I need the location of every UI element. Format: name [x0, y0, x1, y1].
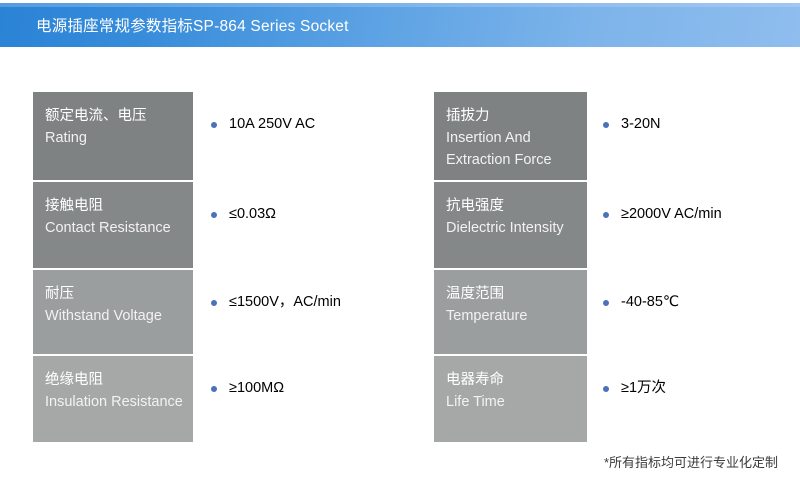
bullet-icon: [603, 300, 609, 306]
spec-value: ≤0.03Ω: [229, 204, 276, 224]
spec-label-cn: 绝缘电阻: [45, 369, 183, 391]
bullet-icon: [211, 386, 217, 392]
spec-label-en: Withstand Voltage: [45, 305, 183, 327]
bullet-icon: [603, 212, 609, 218]
spec-label-cn: 耐压: [45, 283, 183, 305]
spec-value: -40-85℃: [621, 292, 679, 312]
spec-column-right: 插拔力 Insertion And Extraction Force 3-20N…: [434, 92, 800, 442]
spec-row: 抗电强度 Dielectric Intensity ≥2000V AC/min: [434, 182, 800, 270]
spec-label-cell: 电器寿命 Life Time: [434, 356, 587, 442]
spec-value-cell: 3-20N: [587, 92, 800, 182]
spec-label-en: Rating: [45, 127, 183, 149]
bullet-icon: [211, 300, 217, 306]
spec-row: 温度范围 Temperature -40-85℃: [434, 270, 800, 356]
spec-label-cn: 接触电阻: [45, 195, 183, 217]
spec-label-en-line2: Extraction Force: [446, 149, 577, 171]
spec-label-en: Contact Resistance: [45, 217, 183, 239]
header-banner: 电源插座常规参数指标SP-864 Series Socket: [0, 3, 800, 47]
spec-value: ≥1万次: [621, 378, 666, 398]
spec-label-cell: 插拔力 Insertion And Extraction Force: [434, 92, 587, 182]
spec-value-cell: -40-85℃: [587, 270, 800, 356]
spec-label-cn: 温度范围: [446, 283, 577, 305]
spec-label-en: Insulation Resistance: [45, 391, 183, 413]
spec-label-cell: 接触电阻 Contact Resistance: [33, 182, 193, 270]
spec-value: ≥100MΩ: [229, 378, 284, 398]
spec-label-cn: 额定电流、电压: [45, 105, 183, 127]
spec-row: 电器寿命 Life Time ≥1万次: [434, 356, 800, 442]
spec-label-en: Dielectric Intensity: [446, 217, 577, 239]
spec-label-en: Temperature: [446, 305, 577, 327]
spec-row: 插拔力 Insertion And Extraction Force 3-20N: [434, 92, 800, 182]
spec-value: 10A 250V AC: [229, 114, 315, 134]
spec-value: ≤1500V，AC/min: [229, 292, 341, 312]
page-title: 电源插座常规参数指标SP-864 Series Socket: [36, 14, 349, 36]
spec-value: 3-20N: [621, 114, 661, 134]
spec-label-cn: 抗电强度: [446, 195, 577, 217]
bullet-icon: [211, 212, 217, 218]
spec-label-cn: 插拔力: [446, 105, 577, 127]
spec-label-cn: 电器寿命: [446, 369, 577, 391]
spec-label-cell: 温度范围 Temperature: [434, 270, 587, 356]
bullet-icon: [603, 386, 609, 392]
spec-value: ≥2000V AC/min: [621, 204, 722, 224]
spec-value-cell: ≥2000V AC/min: [587, 182, 800, 270]
spec-label-cell: 额定电流、电压 Rating: [33, 92, 193, 182]
spec-label-cell: 耐压 Withstand Voltage: [33, 270, 193, 356]
spec-value-cell: ≥1万次: [587, 356, 800, 442]
spec-label-cell: 抗电强度 Dielectric Intensity: [434, 182, 587, 270]
bullet-icon: [603, 122, 609, 128]
spec-label-cell: 绝缘电阻 Insulation Resistance: [33, 356, 193, 442]
spec-label-en: Life Time: [446, 391, 577, 413]
spec-label-en: Insertion And: [446, 127, 577, 149]
footer-note: *所有指标均可进行专业化定制: [604, 452, 778, 471]
bullet-icon: [211, 122, 217, 128]
